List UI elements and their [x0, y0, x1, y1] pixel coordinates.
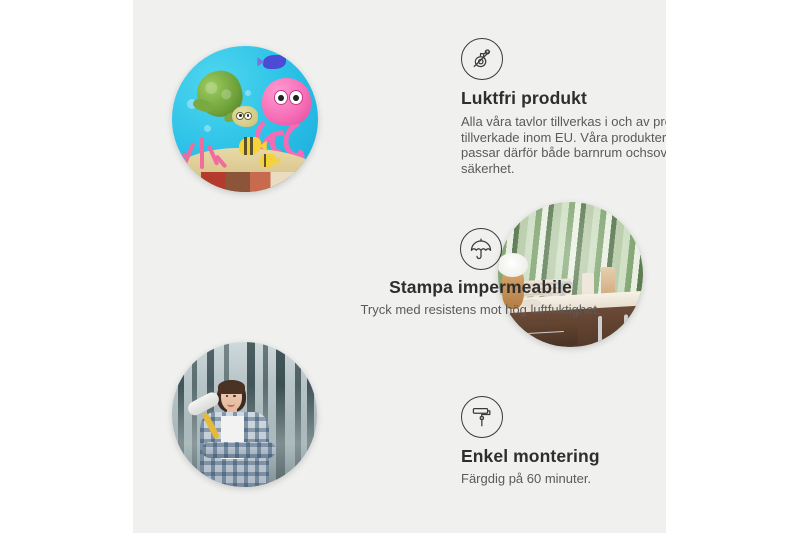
feature-block-assembly: Enkel montering Färgdig på 60 minuter. [461, 396, 666, 487]
product-feature-panel: Luktfri produkt Alla våra tavlor tillver… [133, 0, 666, 533]
ocean-bottom-objects [201, 172, 294, 192]
feature-block-waterproof: Stampa impermeabile Tryck med resistens … [348, 228, 613, 318]
photo-ocean-illustration [172, 46, 318, 192]
feature-assembly-body: Färgdig på 60 minuter. [461, 471, 666, 487]
feature-waterproof-icon-wrap [348, 228, 613, 277]
feature-waterproof-body: Tryck med resistens mot hög luftfuktighe… [348, 302, 613, 318]
forest-woman-painter [192, 380, 288, 487]
no-odour-spray-bottle-icon [461, 38, 503, 80]
feature-assembly-icon-wrap [461, 396, 666, 438]
screenshot-root: Luktfri produkt Alla våra tavlor tillver… [0, 0, 800, 533]
feature-odorless-title: Luktfri produkt [461, 88, 666, 109]
feature-odorless-body: Alla våra tavlor tillverkas i och av pro… [461, 114, 666, 176]
ocean-pink-coral [178, 125, 228, 169]
umbrella-icon [460, 228, 502, 270]
feature-waterproof-title: Stampa impermeabile [348, 277, 613, 298]
feature-block-odorless: Luktfri produkt Alla våra tavlor tillver… [461, 38, 666, 176]
ocean-yellow-fish-small [260, 154, 276, 167]
photo-painter-forest [172, 342, 317, 487]
feature-assembly-title: Enkel montering [461, 446, 666, 467]
paint-roller-icon [461, 396, 503, 438]
ocean-sea-turtle [197, 71, 258, 129]
feature-odorless-icon-wrap [461, 38, 666, 80]
